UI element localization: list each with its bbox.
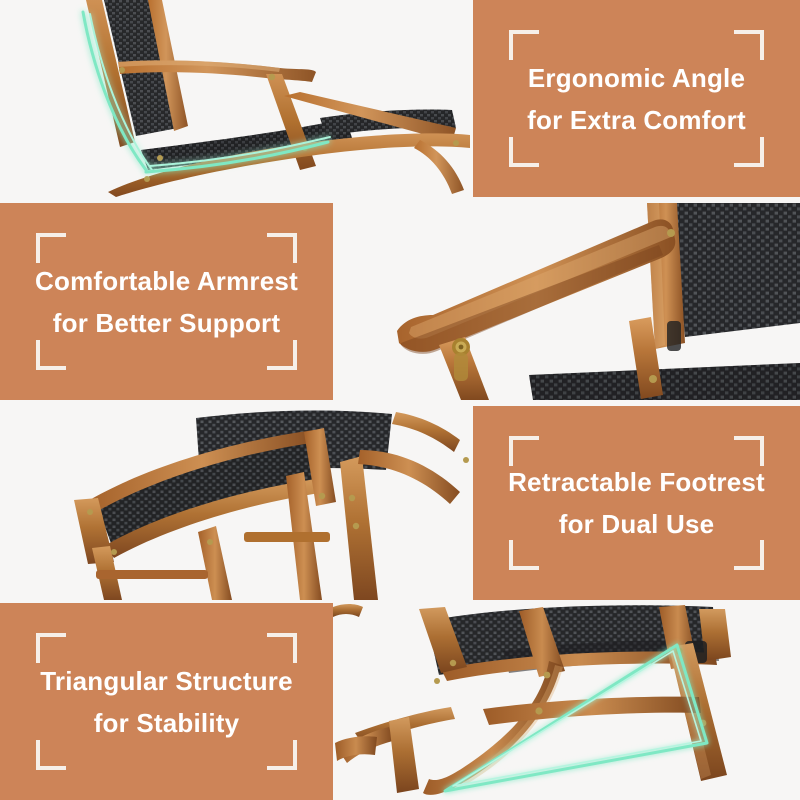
feature-caption-triangular-structure: Triangular Structure for Stability [22, 660, 311, 744]
feature-row-triangular-structure: Triangular Structure for Stability [0, 603, 800, 800]
caption-panel-comfortable-armrest: Comfortable Armrest for Better Support [0, 203, 333, 400]
product-feature-infographic: Ergonomic Angle for Extra Comfort Comfor… [0, 0, 800, 800]
product-photo-triangular-structure [333, 603, 800, 800]
corner-bracket-bottom-left-icon [36, 740, 66, 770]
feature-row-ergonomic-angle: Ergonomic Angle for Extra Comfort [0, 0, 800, 197]
feature-caption-comfortable-armrest: Comfortable Armrest for Better Support [17, 260, 316, 344]
feature-row-comfortable-armrest: Comfortable Armrest for Better Support [0, 203, 800, 400]
corner-bracket-top-left-icon [509, 30, 539, 60]
corner-bracket-bottom-right-icon [267, 340, 297, 370]
corner-bracket-top-right-icon [267, 633, 297, 663]
corner-bracket-bottom-right-icon [267, 740, 297, 770]
feature-caption-ergonomic-angle: Ergonomic Angle for Extra Comfort [509, 57, 764, 141]
corner-bracket-bottom-left-icon [36, 340, 66, 370]
corner-bracket-top-left-icon [36, 633, 66, 663]
feature-caption-retractable-footrest: Retractable Footrest for Dual Use [490, 461, 783, 545]
corner-bracket-top-right-icon [267, 233, 297, 263]
product-photo-retractable-footrest [0, 406, 473, 600]
product-photo-ergonomic-angle [0, 0, 473, 197]
feature-row-retractable-footrest: Retractable Footrest for Dual Use [0, 406, 800, 600]
caption-panel-ergonomic-angle: Ergonomic Angle for Extra Comfort [473, 0, 800, 197]
corner-bracket-bottom-left-icon [509, 137, 539, 167]
caption-panel-triangular-structure: Triangular Structure for Stability [0, 603, 333, 800]
caption-panel-retractable-footrest: Retractable Footrest for Dual Use [473, 406, 800, 600]
product-photo-comfortable-armrest [333, 203, 800, 400]
corner-bracket-top-right-icon [734, 30, 764, 60]
corner-bracket-top-left-icon [36, 233, 66, 263]
corner-bracket-bottom-right-icon [734, 137, 764, 167]
